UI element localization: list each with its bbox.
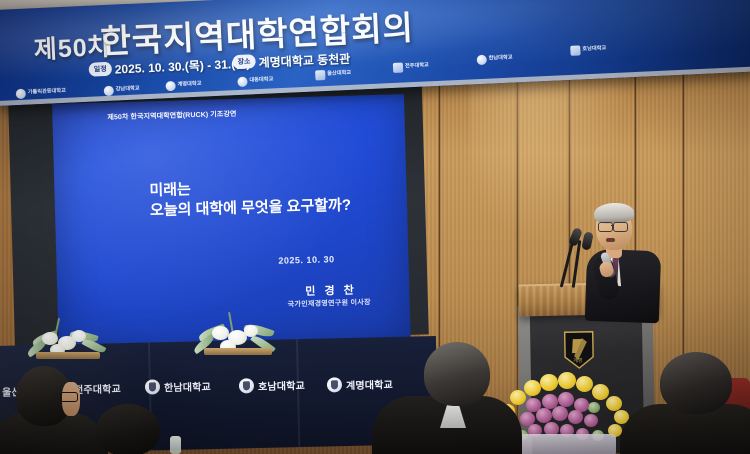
- bouquet-wrapping: [520, 434, 616, 454]
- flower-arrangement-right: [190, 312, 290, 362]
- slide-speaker-affiliation: 국가인재경영연구원 이사장: [288, 297, 371, 309]
- university-seal-icon: [315, 70, 325, 80]
- banner-logo-item: 가톨릭관동대학교: [16, 87, 67, 99]
- slide-title-line1: 미래는: [149, 178, 191, 200]
- audience-member-head: [660, 352, 732, 414]
- slide-header: 제50차 한국지역대학연합(RUCK) 기조강연: [107, 109, 236, 123]
- skirt-logo-label: 전주대학교: [74, 380, 121, 396]
- banner-logo-item: 전주대학교: [393, 61, 429, 73]
- university-seal-icon: [16, 89, 26, 99]
- banner-logo-label: 울산대학교: [327, 71, 351, 78]
- banner-place-value: 계명대학교 동천관: [258, 50, 350, 71]
- eyeglasses-icon: [598, 222, 613, 232]
- university-seal-icon: [393, 63, 403, 73]
- skirt-logo-item: 계명대학교: [327, 376, 393, 392]
- banner-logo-label: 강남대학교: [116, 87, 140, 94]
- university-seal-icon: [145, 379, 160, 394]
- banner-logo-item: 한남대학교: [477, 54, 513, 66]
- banner-logo-item: 대동대학교: [237, 75, 273, 87]
- banner-logo-label: 한남대학교: [489, 56, 513, 63]
- skirt-logo-label: 호남대학교: [258, 377, 305, 393]
- speaker-mouth: [606, 238, 615, 242]
- university-seal-icon: [237, 77, 247, 87]
- skirt-logo-item: 호남대학교: [239, 377, 305, 393]
- banner-logo-label: 계명대학교: [177, 82, 201, 89]
- banner-logo-label: 대동대학교: [249, 78, 273, 85]
- skirt-logo-item: 한남대학교: [145, 378, 211, 394]
- eyeglasses-icon: [60, 392, 78, 402]
- slide-title-line2: 오늘의 대학에 무엇을 요구할까?: [150, 194, 352, 221]
- banner-edition: 제50차: [33, 27, 112, 66]
- banner-date-value: 2025. 10. 30.(목) - 31.(금): [114, 54, 250, 77]
- audience-member-head: [424, 342, 490, 406]
- conference-photo: 제50차 한국지역대학연합(RUCK) 기조강연 미래는 오늘의 대학에 무엇을…: [0, 0, 750, 454]
- university-seal-icon: [570, 45, 580, 55]
- audience-member-head: [96, 404, 160, 454]
- university-seal-icon: [104, 86, 114, 96]
- banner-place-label: 장소: [232, 54, 256, 69]
- banner-logo-label: 호남대학교: [582, 46, 606, 53]
- banner-logo-item: 계명대학교: [165, 80, 201, 92]
- banner-logo-item: 호남대학교: [570, 44, 606, 56]
- speaker-hair: [594, 202, 635, 224]
- slide-speaker-name: 민 경 찬: [305, 282, 357, 299]
- banner-title: 한국지역대학연합회의: [99, 1, 414, 63]
- university-seal-icon: [165, 81, 175, 91]
- eyeglasses-icon: [613, 222, 628, 232]
- skirt-logo-label: 계명대학교: [346, 376, 393, 392]
- slide-date: 2025. 10. 30: [278, 254, 334, 266]
- svg-text:계명: 계명: [573, 357, 582, 364]
- banner-date-label: 일정: [88, 62, 112, 77]
- university-seal-icon: [477, 55, 487, 65]
- skirt-logo-label: 한남대학교: [164, 378, 211, 394]
- banner-logo-item: 강남대학교: [104, 84, 140, 96]
- keimyung-emblem-icon: 계명: [562, 330, 597, 371]
- banner-logo-label: 가톨릭관동대학교: [28, 89, 66, 96]
- water-bottle: [170, 436, 181, 454]
- university-seal-icon: [239, 378, 254, 393]
- flower-arrangement-left: [26, 318, 116, 362]
- university-seal-icon: [327, 377, 342, 392]
- banner-logo-label: 전주대학교: [405, 63, 429, 70]
- eyeglasses-bridge: [611, 225, 614, 226]
- banner-logo-item: 울산대학교: [315, 69, 351, 81]
